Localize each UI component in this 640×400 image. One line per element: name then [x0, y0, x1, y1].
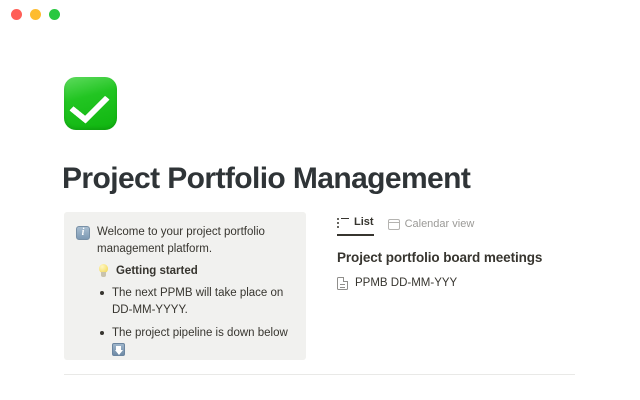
bullet-text: The next PPMB will take place on DD-MM-Y… — [112, 285, 292, 319]
minimize-window-button[interactable] — [30, 9, 41, 20]
getting-started-row: Getting started — [97, 263, 292, 279]
document-icon — [337, 277, 348, 290]
bullet-text: The project pipeline is down below — [112, 327, 288, 339]
tab-calendar-view[interactable]: Calendar view — [388, 218, 475, 236]
list-item: The next PPMB will take place on DD-MM-Y… — [100, 285, 292, 319]
bullet-text-wrapper: The project pipeline is down below — [112, 325, 292, 359]
list-item-label: PPMB DD-MM-YYY — [355, 276, 457, 291]
getting-started-label: Getting started — [116, 263, 198, 279]
tab-list-label: List — [354, 216, 374, 229]
down-arrow-icon — [112, 343, 125, 356]
calendar-icon — [388, 219, 400, 230]
information-icon — [76, 226, 90, 240]
tab-list[interactable]: List — [337, 216, 374, 236]
app-window: Project Portfolio Management Welcome to … — [0, 0, 640, 400]
light-bulb-icon — [97, 264, 110, 278]
bullet-point-icon — [100, 331, 104, 335]
list-icon — [337, 218, 349, 228]
window-titlebar — [0, 0, 640, 28]
tab-calendar-view-label: Calendar view — [405, 218, 475, 231]
list-item[interactable]: PPMB DD-MM-YYY — [337, 276, 599, 291]
page-icon[interactable] — [64, 77, 117, 130]
welcome-callout[interactable]: Welcome to your project portfolio manage… — [64, 212, 306, 360]
callout-bullet-list: The next PPMB will take place on DD-MM-Y… — [100, 285, 292, 359]
page-title[interactable]: Project Portfolio Management — [62, 160, 470, 198]
maximize-window-button[interactable] — [49, 9, 60, 20]
green-check-mark-icon — [64, 77, 117, 130]
database-panel: List Calendar view Project portfolio boa… — [337, 214, 599, 291]
close-window-button[interactable] — [11, 9, 22, 20]
callout-welcome-text: Welcome to your project portfolio manage… — [97, 224, 292, 258]
panel-heading[interactable]: Project portfolio board meetings — [337, 249, 599, 267]
callout-header-row: Welcome to your project portfolio manage… — [76, 224, 292, 258]
view-tabs: List Calendar view — [337, 214, 599, 236]
page-content: Project Portfolio Management Welcome to … — [0, 28, 640, 400]
section-divider — [64, 374, 575, 375]
bullet-point-icon — [100, 291, 104, 295]
list-item: The project pipeline is down below — [100, 325, 292, 359]
